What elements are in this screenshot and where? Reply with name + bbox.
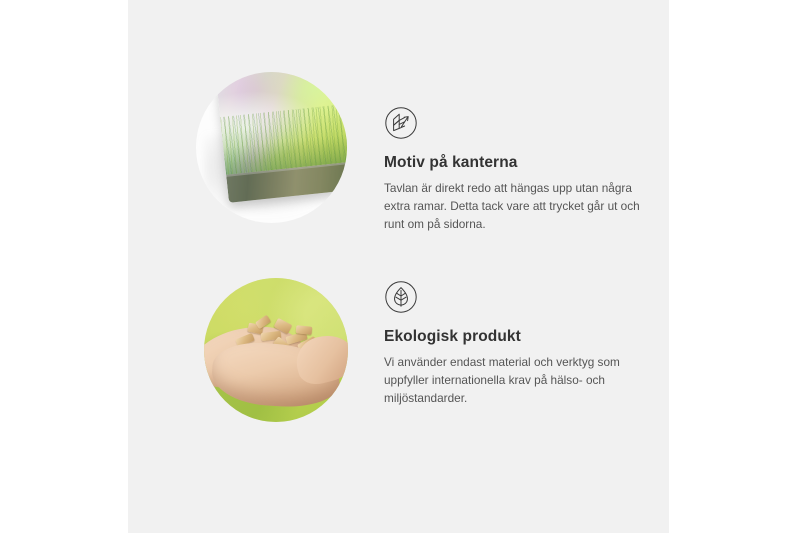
feature-content-edges: Motiv på kanterna Tavlan är direkt redo … [384, 106, 662, 233]
canvas-edge-print-icon [384, 106, 418, 140]
feature-body-edges: Tavlan är direkt redo att hängas upp uta… [384, 179, 646, 233]
feature-body-eco: Vi använder endast material och verktyg … [384, 353, 646, 407]
canvas-front-face [216, 72, 347, 175]
feature-panel: Motiv på kanterna Tavlan är direkt redo … [128, 0, 669, 533]
hands-holding-wood-chips-photo [204, 278, 348, 422]
wood-chip [296, 325, 313, 335]
canvas-block [216, 72, 347, 203]
feature-item-eco: Ekologisk produkt Vi använder endast mat… [128, 260, 669, 440]
feature-title-edges: Motiv på kanterna [384, 154, 662, 173]
feature-list: Motiv på kanterna Tavlan är direkt redo … [128, 0, 669, 533]
feature-photo-wrapper-edges [196, 72, 347, 223]
canvas-print-corner-photo [196, 72, 347, 223]
feature-title-eco: Ekologisk produkt [384, 328, 662, 347]
feature-photo-wrapper-eco [204, 278, 348, 422]
leaf-icon [384, 280, 418, 314]
product-feature-banner: Motiv på kanterna Tavlan är direkt redo … [0, 0, 800, 533]
feature-item-edges: Motiv på kanterna Tavlan är direkt redo … [128, 72, 669, 252]
feature-content-eco: Ekologisk produkt Vi använder endast mat… [384, 280, 662, 407]
